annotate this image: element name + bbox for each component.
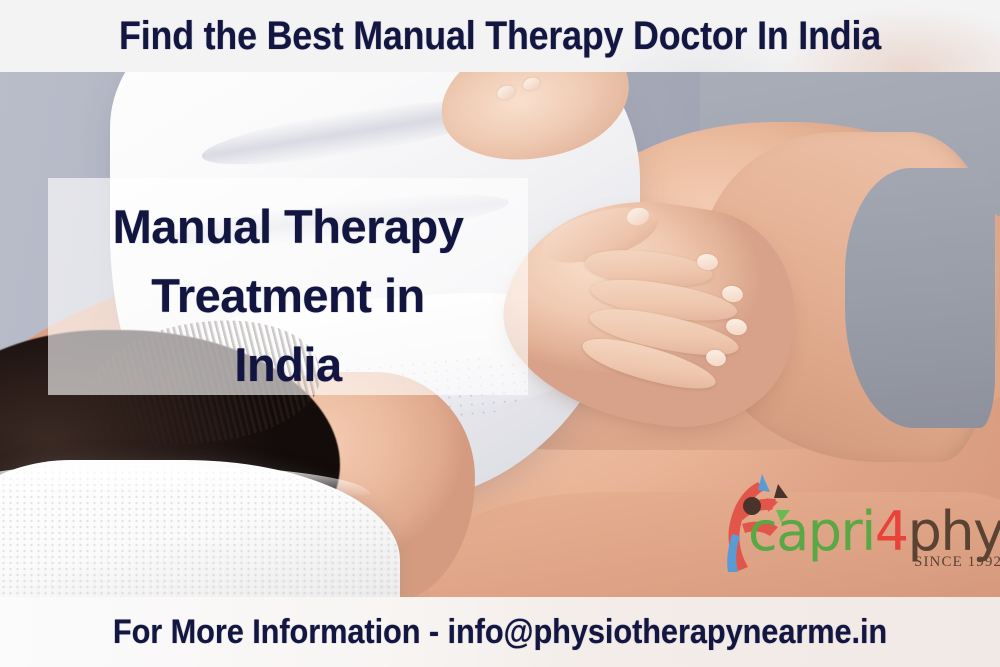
hero-headline-line-2: Treatment in: [151, 261, 424, 330]
logo-word-four: 4: [875, 500, 908, 563]
logo-word-capri: capri: [748, 500, 875, 563]
page-title: Find the Best Manual Therapy Doctor In I…: [53, 0, 948, 72]
logo-wordmark: capri4physio: [748, 503, 1000, 561]
bottom-banner: For More Information - info@physiotherap…: [0, 597, 1000, 667]
hero-headline-box: Manual Therapy Treatment in India: [48, 178, 528, 395]
top-banner: Find the Best Manual Therapy Doctor In I…: [0, 0, 1000, 72]
hero-headline-line-1: Manual Therapy: [113, 192, 464, 261]
poster-root: Manual Therapy Treatment in India capri: [0, 0, 1000, 667]
hero-headline-line-3: India: [234, 330, 341, 399]
backdrop-notch: [845, 168, 995, 428]
contact-info: For More Information - info@physiotherap…: [48, 597, 953, 667]
logo-since-text: SINCE 1992: [914, 554, 1000, 571]
capri4physio-logo[interactable]: capri4physio SINCE 1992: [712, 468, 994, 580]
